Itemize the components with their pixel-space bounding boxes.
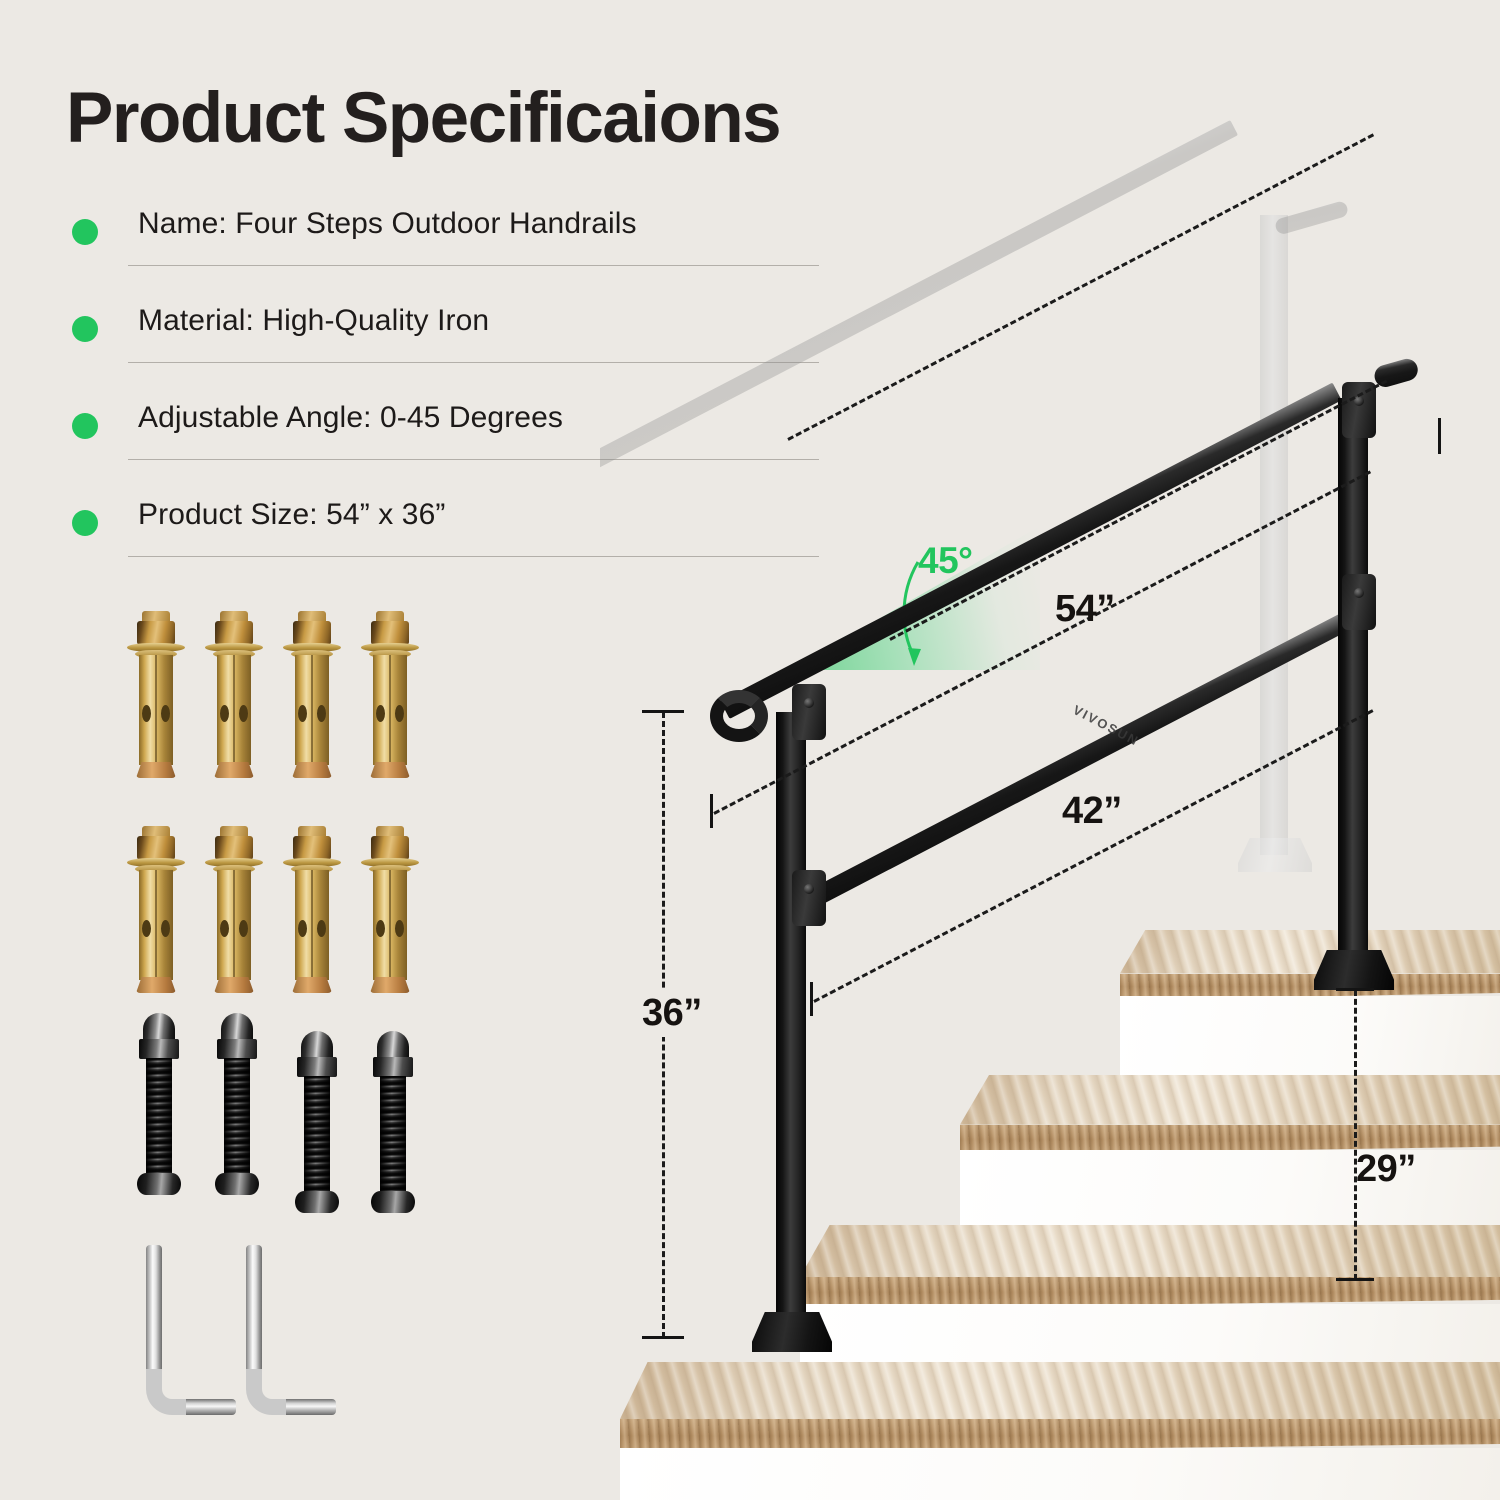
dimension-tick	[810, 982, 813, 1016]
allen-hex-wrench	[246, 1245, 336, 1420]
dimension-tick	[642, 1336, 684, 1339]
spec-item-label: Product Size: 54” x 36”	[138, 498, 445, 532]
bullet-icon	[72, 510, 98, 536]
ghost-handrail-end	[1274, 200, 1350, 236]
stair-riser	[620, 1448, 1500, 1500]
dome-cap-bolt	[128, 1013, 190, 1203]
dimension-tick	[710, 794, 713, 828]
right-lower-bracket	[1342, 574, 1376, 630]
dimension-tick	[1336, 988, 1374, 991]
stair-step	[620, 1362, 1500, 1454]
expansion-anchor-bolt	[203, 820, 265, 995]
spec-item-label: Name: Four Steps Outdoor Handrails	[138, 207, 637, 241]
left-rail-bracket	[792, 684, 826, 740]
left-post-base	[752, 1312, 832, 1352]
handrail-left-post	[776, 712, 806, 1332]
dimension-label-36: 36”	[636, 990, 708, 1037]
dimension-tick	[1336, 1278, 1374, 1281]
dome-cap-bolt	[362, 1031, 424, 1221]
dimension-line-29	[1354, 990, 1357, 1280]
bullet-icon	[72, 219, 98, 245]
stair-step	[960, 1075, 1500, 1155]
hardware-parts-group	[0, 575, 470, 1475]
dimension-label-54: 54”	[1055, 588, 1115, 631]
dome-cap-bolt	[286, 1031, 348, 1221]
bullet-icon	[72, 413, 98, 439]
dimension-label-29: 29”	[1356, 1148, 1416, 1191]
dome-cap-bolt	[206, 1013, 268, 1203]
expansion-anchor-bolt	[359, 820, 421, 995]
expansion-anchor-bolt	[281, 820, 343, 995]
dimension-line-42-upper	[889, 380, 1387, 641]
expansion-anchor-bolt	[203, 605, 265, 780]
dimension-tick	[1438, 418, 1441, 454]
ghost-handrail-upper	[600, 120, 1238, 486]
spec-item-label: Material: High-Quality Iron	[138, 304, 489, 338]
expansion-anchor-bolt	[281, 605, 343, 780]
allen-hex-wrench	[146, 1245, 236, 1420]
left-lower-bracket	[792, 870, 826, 926]
expansion-anchor-bolt	[125, 820, 187, 995]
bullet-icon	[72, 316, 98, 342]
handrail-diagram: 45° VIVOSUN 54” 42” 36” 29”	[600, 0, 1500, 1500]
ghost-post-base	[1238, 838, 1312, 872]
right-post-base	[1314, 950, 1394, 990]
expansion-anchor-bolt	[359, 605, 421, 780]
dimension-label-42: 42”	[1062, 790, 1122, 833]
stair-step	[800, 1225, 1500, 1309]
spec-item-label: Adjustable Angle: 0-45 Degrees	[138, 401, 563, 435]
expansion-anchor-bolt	[125, 605, 187, 780]
handrail-scroll-end-icon	[710, 690, 768, 742]
stair-step	[1120, 930, 1500, 1000]
dimension-tick	[642, 710, 684, 713]
